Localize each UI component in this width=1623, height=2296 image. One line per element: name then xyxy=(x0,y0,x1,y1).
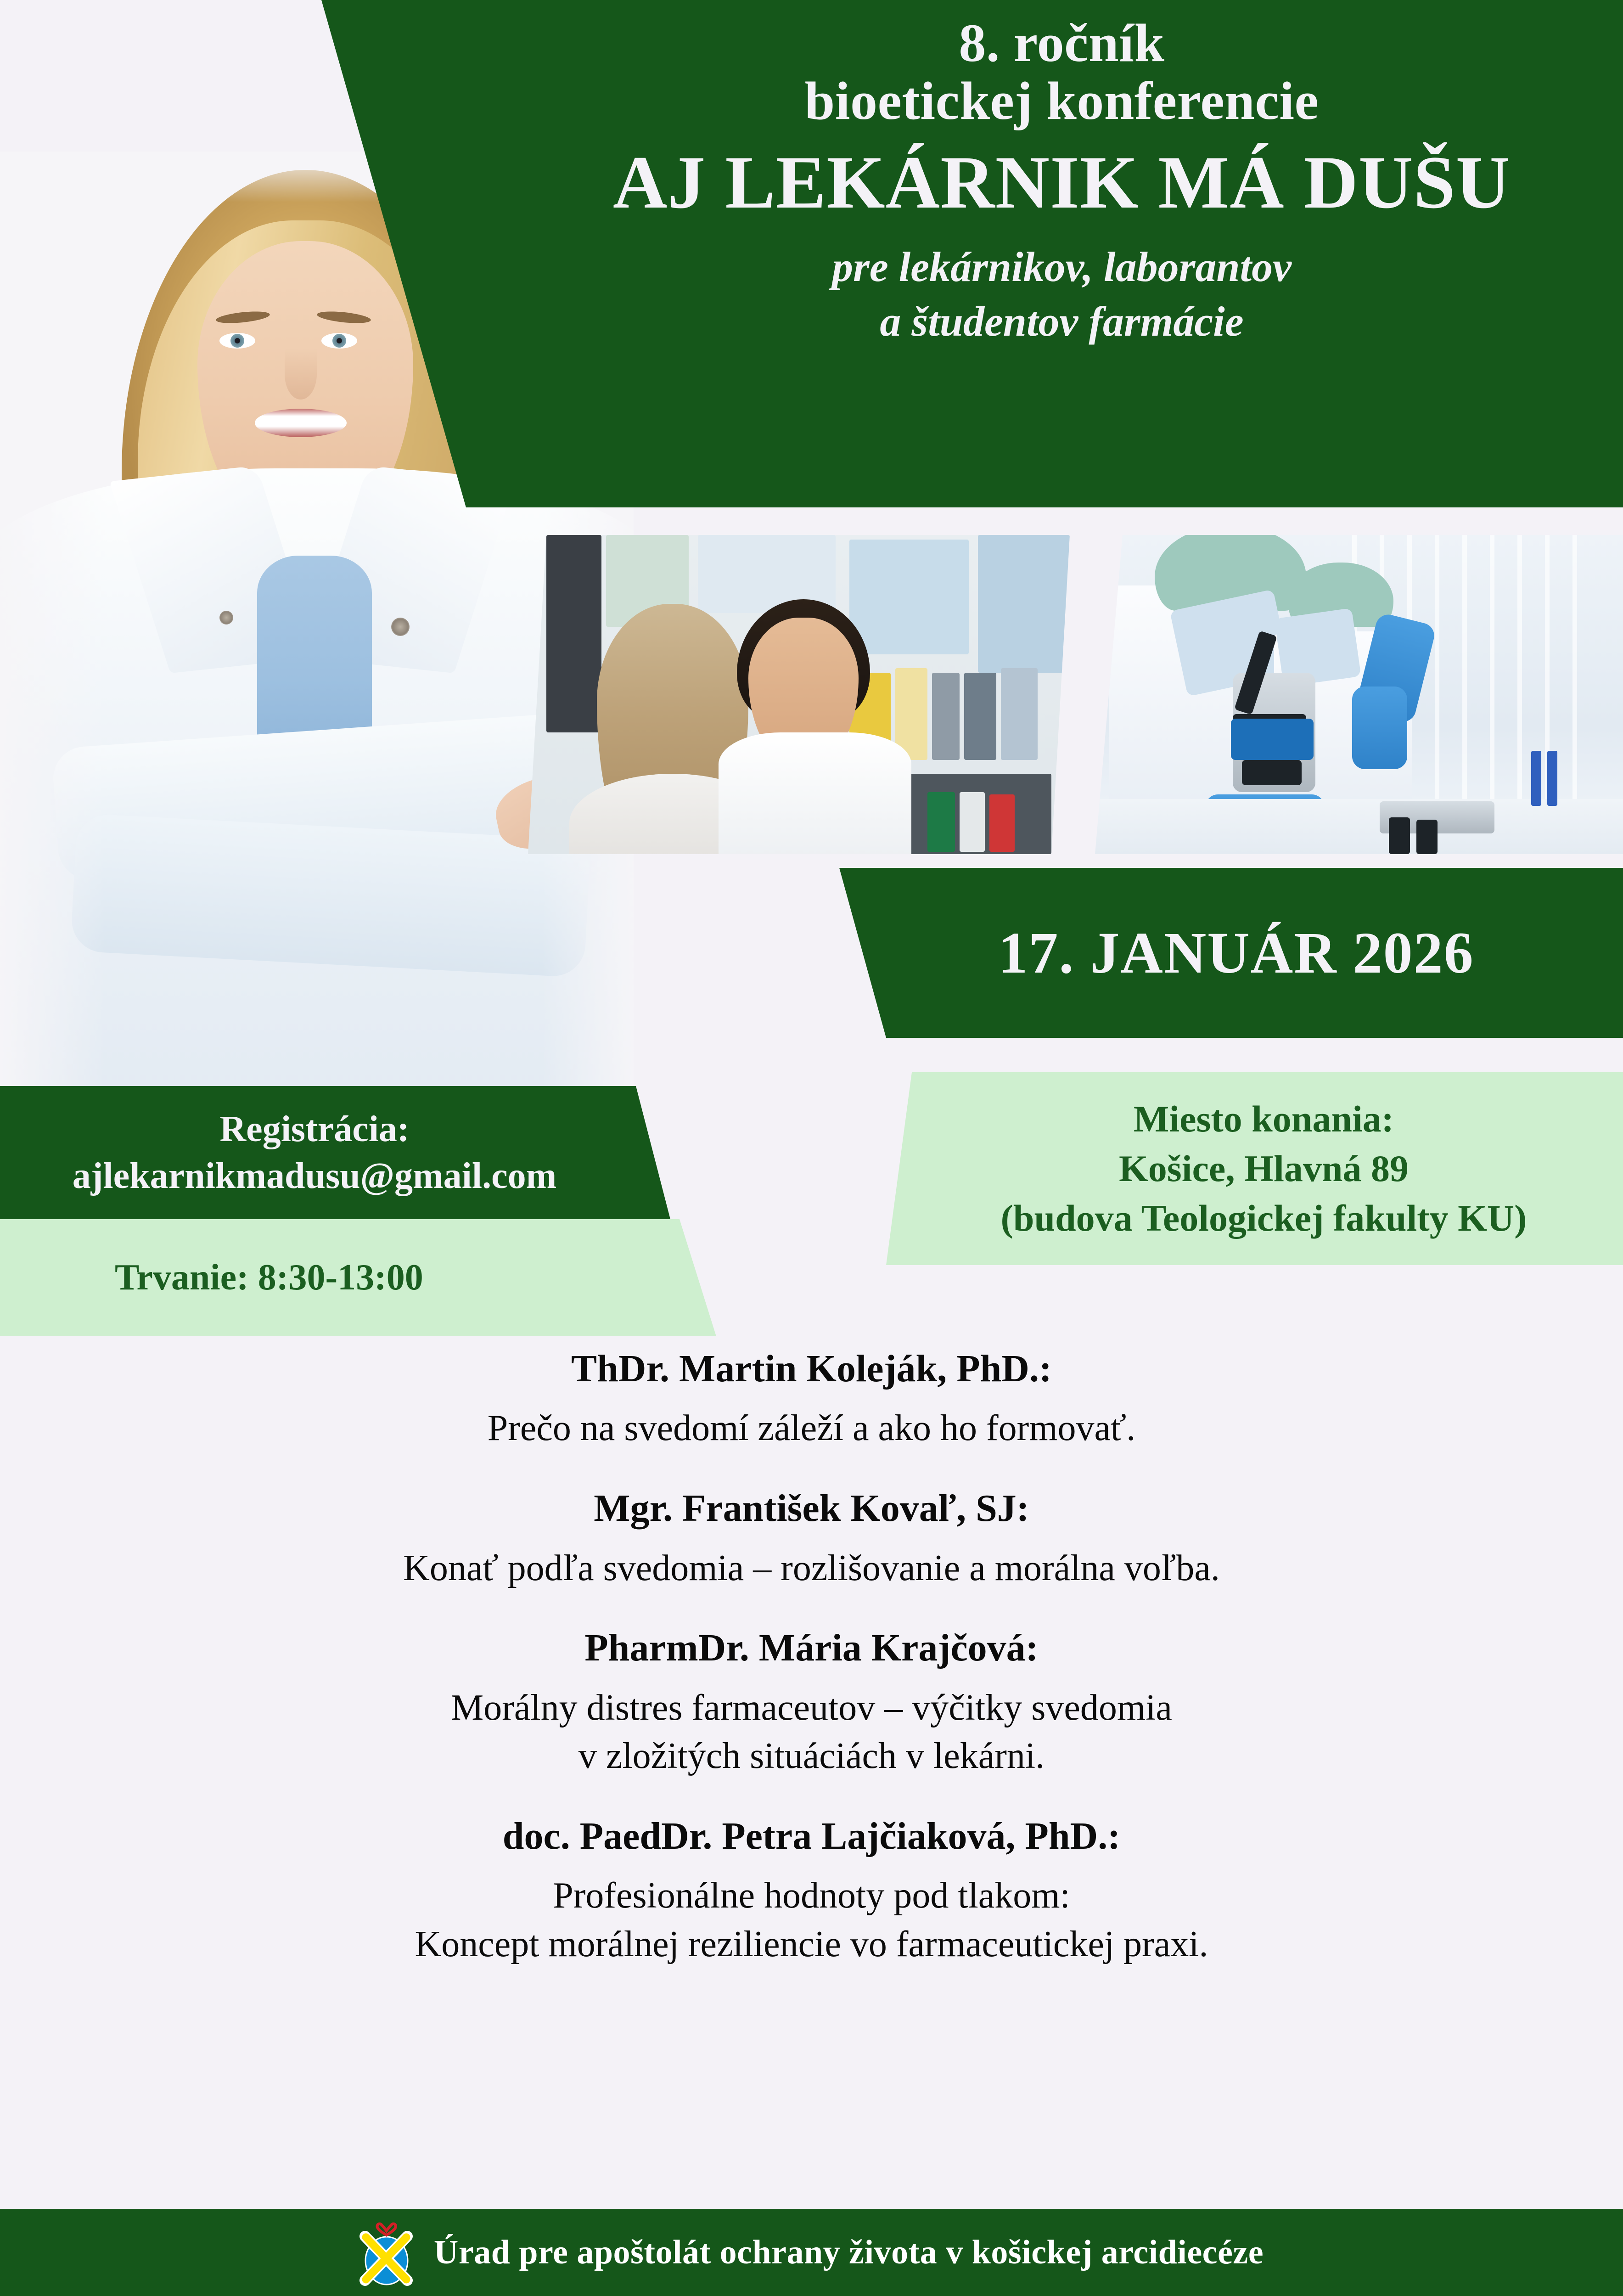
speaker-topic-line: v zložitých situáciách v lekárni. xyxy=(0,1732,1623,1781)
organizer-label: Úrad pre apoštolát ochrany života v koši… xyxy=(434,2233,1264,2272)
speaker-item: PharmDr. Mária Krajčová: Morálny distres… xyxy=(0,1625,1623,1781)
speaker-name: PharmDr. Mária Krajčová: xyxy=(0,1625,1623,1671)
registration-email[interactable]: ajlekarnikmadusu@gmail.com xyxy=(73,1153,557,1199)
conference-poster: 8. ročník bioetickej konferencie AJ LEKÁ… xyxy=(0,0,1623,2296)
speaker-topic-line: Prečo na svedomí záleží a ako ho formova… xyxy=(0,1404,1623,1453)
venue-building: (budova Teologickej fakulty KU) xyxy=(1001,1193,1527,1243)
page-title: AJ LEKÁRNIK MÁ DUŠU xyxy=(613,141,1511,224)
registration-label: Registrácia: xyxy=(73,1106,557,1153)
footer-bar: Úrad pre apoštolát ochrany života v koši… xyxy=(0,2209,1623,2296)
speaker-item: doc. PaedDr. Petra Lajčiaková, PhD.: Pro… xyxy=(0,1813,1623,1969)
audience-line-2: a študentov farmácie xyxy=(880,295,1243,349)
laboratory-microscope-photo xyxy=(1095,535,1623,854)
speaker-topic-line: Profesionálne hodnoty pod tlakom: xyxy=(0,1872,1623,1920)
speaker-topic-line: Koncept morálnej reziliencie vo farmaceu… xyxy=(0,1920,1623,1969)
speaker-name: Mgr. František Kovaľ, SJ: xyxy=(0,1485,1623,1532)
duration-block: Trvanie: 8:30-13:00 xyxy=(0,1219,716,1336)
speaker-item: ThDr. Martin Koleják, PhD.: Prečo na sve… xyxy=(0,1345,1623,1453)
heart-cross-shield-icon xyxy=(359,2218,414,2287)
pharmacy-consultation-photo xyxy=(528,535,1070,854)
header-text-group: 8. ročník bioetickej konferencie AJ LEKÁ… xyxy=(500,0,1623,507)
venue-label: Miesto konania: xyxy=(1001,1094,1527,1144)
speaker-topic-line: Konať podľa svedomia – rozlišovanie a mo… xyxy=(0,1544,1623,1593)
speaker-item: Mgr. František Kovaľ, SJ: Konať podľa sv… xyxy=(0,1485,1623,1593)
venue-address: Košice, Hlavná 89 xyxy=(1001,1144,1527,1193)
date-banner: 17. JANUÁR 2026 xyxy=(822,868,1623,1038)
event-date: 17. JANUÁR 2026 xyxy=(971,919,1474,987)
audience-line-1: pre lekárnikov, laborantov xyxy=(832,240,1292,294)
edition-line-2: bioetickej konferencie xyxy=(805,71,1319,131)
venue-block: Miesto konania: Košice, Hlavná 89 (budov… xyxy=(886,1072,1623,1265)
speaker-name: ThDr. Martin Koleják, PhD.: xyxy=(0,1345,1623,1392)
speaker-topic-line: Morálny distres farmaceutov – výčitky sv… xyxy=(0,1684,1623,1733)
speakers-list: ThDr. Martin Koleják, PhD.: Prečo na sve… xyxy=(0,1345,1623,2172)
speaker-name: doc. PaedDr. Petra Lajčiaková, PhD.: xyxy=(0,1813,1623,1860)
edition-line-1: 8. ročník xyxy=(959,13,1164,73)
duration-value: Trvanie: 8:30-13:00 xyxy=(0,1257,423,1299)
registration-block: Registrácia: ajlekarnikmadusu@gmail.com xyxy=(0,1086,670,1219)
